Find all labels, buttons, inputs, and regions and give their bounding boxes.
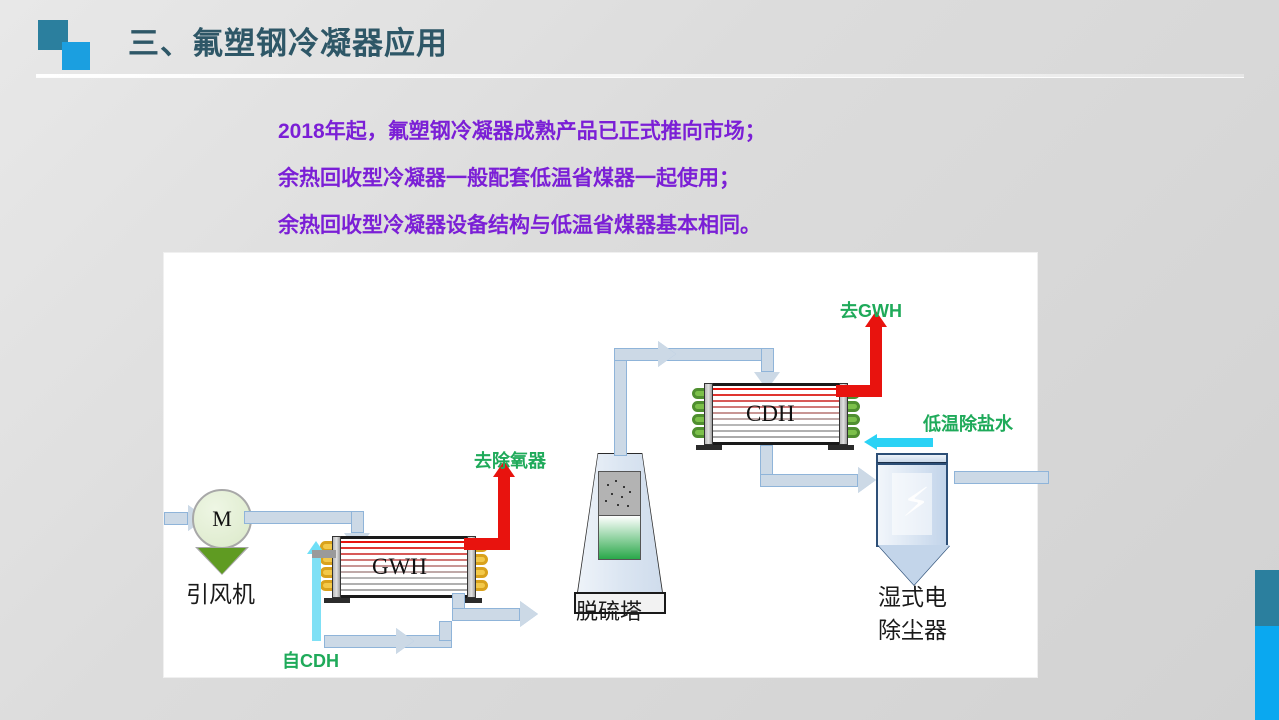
cdh-hotwater-vertical bbox=[870, 325, 882, 391]
duct-esp-inlet-arrowhead bbox=[858, 467, 876, 493]
particle-dot bbox=[615, 480, 617, 482]
body-line-3: 余热回收型冷凝器设备结构与低温省煤器基本相同。 bbox=[278, 202, 1078, 249]
decor-square-light bbox=[62, 42, 90, 70]
duct-tower-inlet-arrowhead bbox=[520, 601, 538, 627]
duct-gwh-out-right bbox=[452, 608, 520, 621]
duct-tower-to-cdh-arrowhead bbox=[658, 341, 676, 367]
duct-inlet bbox=[164, 512, 188, 525]
gwh-tube bbox=[334, 541, 474, 543]
particle-dot bbox=[629, 491, 631, 493]
gwh-header-left bbox=[332, 536, 341, 598]
cdh-tube bbox=[706, 394, 846, 396]
fan-motor-label: M bbox=[212, 506, 232, 532]
title-divider bbox=[36, 74, 1244, 77]
desulfurization-tower: 脱硫塔 bbox=[574, 453, 666, 621]
particle-dot bbox=[621, 496, 623, 498]
duct-lower-return-arrowhead bbox=[396, 628, 414, 654]
demin-water-pipe bbox=[873, 438, 933, 447]
cdh-heat-exchanger: CDH bbox=[692, 383, 860, 445]
body-line-1: 2018年起，氟塑钢冷凝器成熟产品已正式推向市场； bbox=[278, 108, 1078, 155]
edge-decor-teal bbox=[1255, 570, 1279, 626]
gwh-tube bbox=[334, 583, 474, 585]
gwh-top-cap bbox=[334, 536, 474, 539]
edge-decor-blue bbox=[1255, 626, 1279, 720]
cdh-tube bbox=[706, 436, 846, 438]
slide-root: 三、氟塑钢冷凝器应用 2018年起，氟塑钢冷凝器成熟产品已正式推向市场； 余热回… bbox=[0, 0, 1279, 720]
cdh-foot-right bbox=[828, 445, 854, 450]
tower-section-lower bbox=[598, 515, 641, 560]
gwh-tube bbox=[334, 589, 474, 591]
to-gwh-label: 去GWH bbox=[840, 297, 902, 323]
demin-water-arrowhead bbox=[864, 434, 877, 450]
gwh-foot-left bbox=[324, 598, 350, 603]
coldwater-pipe-elbow bbox=[312, 550, 336, 558]
esp-label-line2: 除尘器 bbox=[878, 611, 947, 645]
duct-cdh-to-esp bbox=[760, 474, 858, 487]
cdh-label: CDH bbox=[746, 401, 795, 427]
tower-section-upper bbox=[598, 471, 641, 516]
particle-dot bbox=[611, 493, 613, 495]
cdh-tube bbox=[706, 430, 846, 432]
to-deaerator-label: 去除氧器 bbox=[474, 447, 546, 473]
wet-esp: ⚡ bbox=[876, 453, 952, 593]
duct-lower-return bbox=[324, 635, 452, 648]
duct-esp-outlet bbox=[954, 471, 1049, 484]
particle-dot bbox=[623, 486, 625, 488]
gwh-tube bbox=[334, 547, 474, 549]
fan-base bbox=[198, 548, 246, 574]
duct-lower-return-up bbox=[439, 621, 452, 641]
fan-assembly: M bbox=[192, 489, 252, 574]
cdh-foot-left bbox=[696, 445, 722, 450]
gwh-heat-exchanger: GWH bbox=[320, 536, 488, 598]
esp-label-line1: 湿式电 bbox=[878, 578, 947, 612]
from-cdh-label: 自CDH bbox=[282, 647, 339, 673]
particle-dot bbox=[617, 504, 619, 506]
cdh-bottom-cap bbox=[706, 442, 846, 445]
particle-dot bbox=[627, 505, 629, 507]
duct-cdh-inlet-down bbox=[761, 348, 774, 372]
duct-tower-to-cdh bbox=[614, 348, 774, 361]
particle-dot bbox=[605, 500, 607, 502]
duct-fan-to-gwh-down bbox=[351, 511, 364, 533]
demin-water-label: 低温除盐水 bbox=[923, 410, 1013, 436]
page-title: 三、氟塑钢冷凝器应用 bbox=[128, 18, 448, 63]
cdh-header-left bbox=[704, 383, 713, 445]
fan-label: 引风机 bbox=[186, 575, 255, 609]
cdh-tube bbox=[706, 388, 846, 390]
body-line-2: 余热回收型冷凝器一般配套低温省煤器一起使用； bbox=[278, 155, 1078, 202]
cdh-top-cap bbox=[706, 383, 846, 386]
esp-chamber: ⚡ bbox=[876, 463, 948, 547]
tower-label: 脱硫塔 bbox=[576, 594, 642, 626]
body-text-block: 2018年起，氟塑钢冷凝器成熟产品已正式推向市场； 余热回收型冷凝器一般配套低温… bbox=[278, 108, 1078, 249]
fan-motor-icon: M bbox=[192, 489, 252, 549]
gwh-label: GWH bbox=[372, 554, 427, 580]
particle-dot bbox=[607, 484, 609, 486]
coldwater-pipe-vertical bbox=[312, 553, 321, 641]
duct-fan-to-gwh bbox=[244, 511, 364, 524]
duct-tower-top-up bbox=[614, 348, 627, 456]
hotwater-pipe-vertical bbox=[498, 475, 510, 543]
lightning-bolt-icon: ⚡ bbox=[902, 483, 930, 523]
process-diagram-panel: M 引风机 bbox=[164, 253, 1037, 677]
